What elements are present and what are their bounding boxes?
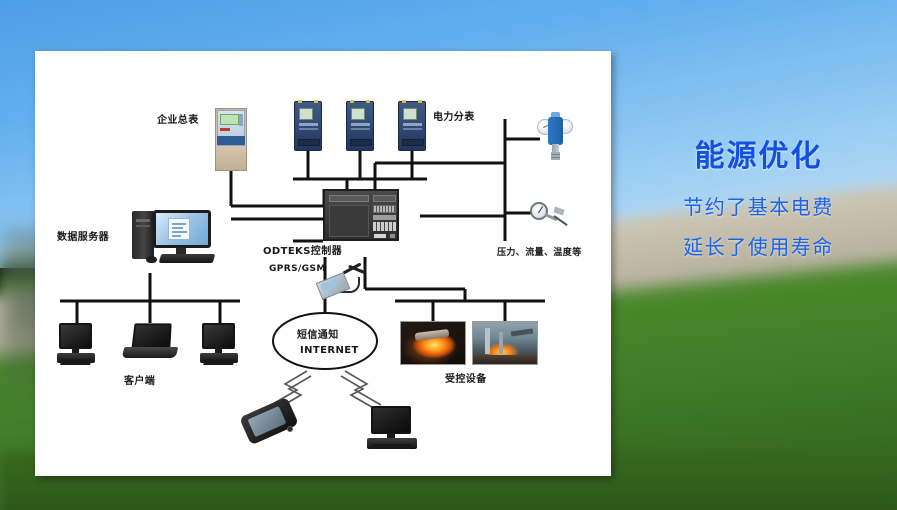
label-controlled-equipment: 受控设备 (445, 375, 487, 385)
desktop-server-icon (120, 206, 224, 264)
pressure-transmitter-icon (535, 111, 575, 163)
benefits-title: 能源优化 (620, 140, 897, 173)
label-enterprise-meter: 企业总表 (157, 116, 199, 126)
desktop-computer-icon (198, 323, 242, 367)
slide-canvas: 企业总表 电力分表 (0, 0, 897, 510)
blue-electric-meter-icon (346, 101, 374, 151)
label-controller: ODTEKS控制器 (263, 247, 342, 257)
label-clients: 客户端 (124, 377, 155, 387)
desktop-computer-icon (55, 323, 99, 367)
label-cloud-sms: 短信通知 (297, 331, 339, 341)
smartphone-icon (243, 406, 299, 444)
industrial-furnace-photo (400, 321, 466, 365)
analog-pressure-gauge-icon (530, 199, 570, 233)
label-power-submeters: 电力分表 (433, 113, 475, 123)
wireless-link-right (341, 371, 381, 410)
benefit-line-1: 节约了基本电费 (620, 195, 897, 219)
blue-electric-meter-icon (398, 101, 426, 151)
gprs-modem-antenna-icon (318, 263, 370, 305)
topology-diagram: 企业总表 电力分表 (35, 51, 611, 476)
laptop-computer-icon (123, 323, 177, 361)
label-cloud-internet: INTERNET (300, 346, 359, 356)
blue-electric-meter-icon (294, 101, 322, 151)
label-sensors: 压力、流量、温度等 (497, 249, 582, 258)
benefits-panel: 能源优化 节约了基本电费 延长了使用寿命 (620, 140, 897, 275)
steel-plant-photo (472, 321, 538, 365)
label-data-server: 数据服务器 (57, 233, 109, 243)
internet-cloud-ellipse (273, 313, 377, 369)
odteks-controller-icon (323, 189, 399, 241)
remote-computer-icon (365, 406, 419, 452)
label-gprs: GPRS/GSM (269, 265, 326, 274)
diagram-panel: 企业总表 电力分表 (35, 51, 611, 476)
electric-meter-icon (215, 108, 247, 171)
benefit-line-2: 延长了使用寿命 (620, 235, 897, 259)
